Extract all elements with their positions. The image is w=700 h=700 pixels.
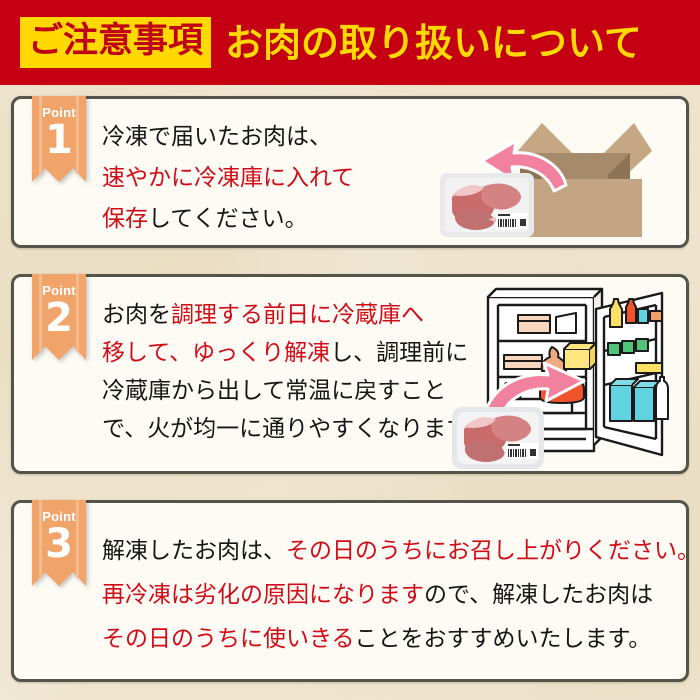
point-card-3: Point 3 解凍したお肉は、その日のうちにお召し上がりください。 再冷凍は劣… <box>11 500 689 682</box>
text-segment: その日のうちにお召し上がりください。 <box>286 538 700 564</box>
point-card-1: Point 1 冷凍で届いたお肉は、 速やかに冷凍庫に入れて 保存してください。 <box>11 96 689 248</box>
page-header: ご注意事項 お肉の取り扱いについて <box>0 0 700 85</box>
text-line: 解凍したお肉は、その日のうちにお召し上がりください。 <box>102 529 700 573</box>
ribbon-number-1: 1 <box>32 120 86 160</box>
meat-package-icon <box>452 407 544 469</box>
ribbon-number-3: 3 <box>32 524 86 564</box>
illustration-frozen-meat-delivery-box <box>438 101 678 252</box>
illustration-refrigerator-thawing <box>444 279 680 476</box>
point-card-2: Point 2 お肉を調理する前日に冷蔵庫へ 移して、ゆっくり解凍し、調理前に … <box>11 274 689 474</box>
text-segment: 冷凍で届いたお肉は、 <box>102 124 332 150</box>
text-segment: ので、解凍したお肉は <box>424 582 653 608</box>
text-segment: 再冷凍は劣化の原因になります <box>102 582 424 608</box>
point-text-1: 冷凍で届いたお肉は、 速やかに冷凍庫に入れて 保存してください。 <box>102 117 354 240</box>
text-segment: 調理する前日に冷蔵庫へ <box>171 302 424 328</box>
text-line: で、火が均一に通りやすくなります。 <box>102 410 490 448</box>
text-segment: 移して、ゆっくり解凍 <box>102 340 330 366</box>
point-ribbon-2: Point 2 <box>32 274 86 360</box>
text-segment: ことをおすすめいたします。 <box>355 626 652 652</box>
point-ribbon-3: Point 3 <box>32 500 86 586</box>
text-line: 再冷凍は劣化の原因になりますので、解凍したお肉は <box>102 573 700 617</box>
text-line: 冷蔵庫から出して常温に戻すこと <box>102 372 490 410</box>
point-text-2: お肉を調理する前日に冷蔵庫へ 移して、ゆっくり解凍し、調理前に 冷蔵庫から出して… <box>102 296 490 448</box>
ribbon-number-2: 2 <box>32 298 86 338</box>
text-line: その日のうちに使いきることをおすすめいたします。 <box>102 617 700 661</box>
page-title: お肉の取り扱いについて <box>225 24 642 62</box>
text-line: 移して、ゆっくり解凍し、調理前に <box>102 334 490 372</box>
meat-package-icon <box>440 173 534 237</box>
text-segment: 保存 <box>102 206 148 232</box>
text-segment: してください。 <box>148 206 308 232</box>
text-line: 冷凍で届いたお肉は、 <box>102 117 354 158</box>
point-ribbon-1: Point 1 <box>32 96 86 182</box>
text-segment: 冷蔵庫から出して常温に戻すこと <box>102 378 446 404</box>
text-segment: 速やかに冷凍庫に入れて <box>102 165 354 191</box>
point-text-3: 解凍したお肉は、その日のうちにお召し上がりください。 再冷凍は劣化の原因になりま… <box>102 529 700 661</box>
text-line: 保存してください。 <box>102 199 354 240</box>
text-line: 速やかに冷凍庫に入れて <box>102 158 354 199</box>
text-line: お肉を調理する前日に冷蔵庫へ <box>102 296 490 334</box>
text-segment: 解凍したお肉は、 <box>102 538 286 564</box>
text-segment: その日のうちに使いきる <box>102 626 355 652</box>
text-segment: お肉を <box>102 302 171 328</box>
text-segment: で、火が均一に通りやすくなります。 <box>102 416 490 442</box>
attention-badge: ご注意事項 <box>20 17 211 68</box>
